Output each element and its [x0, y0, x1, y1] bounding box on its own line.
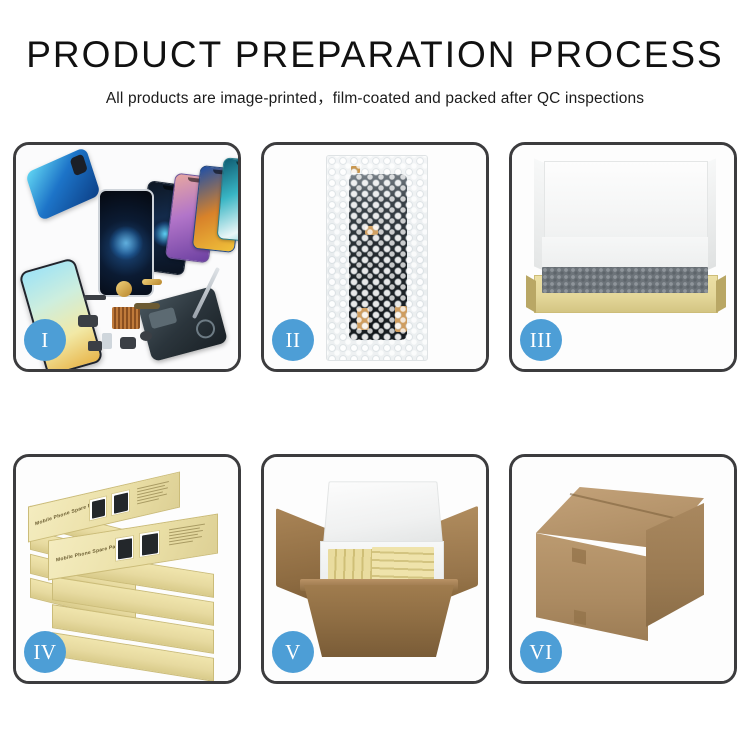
small-part-graphic — [78, 315, 98, 327]
small-part-graphic — [84, 295, 106, 300]
flex-cable-graphic — [142, 279, 162, 285]
step-badge-2: II — [272, 319, 314, 361]
speaker-part-graphic — [140, 331, 152, 341]
bubble-wrap-bag-graphic — [326, 155, 428, 361]
phone-chassis-graphic — [138, 286, 228, 362]
step-badge-5: V — [272, 631, 314, 673]
carton-body-graphic — [304, 585, 454, 657]
process-step-4: Mobile Phone Spare Parts Mobile Phone Sp… — [13, 454, 241, 684]
styrofoam-lid-graphic — [323, 481, 443, 543]
process-step-5: V — [261, 454, 489, 684]
process-step-2: II — [261, 142, 489, 372]
process-step-1: I — [13, 142, 241, 372]
step-badge-6: VI — [520, 631, 562, 673]
small-part-graphic — [120, 337, 136, 349]
process-step-6: VI — [509, 454, 737, 684]
blue-back-panel-graphic — [25, 147, 101, 222]
process-step-3: III — [509, 142, 737, 372]
page-title: PRODUCT PREPARATION PROCESS — [0, 36, 750, 75]
carton-tape-graphic — [574, 610, 586, 626]
carton-tape-graphic — [572, 548, 586, 565]
page-subtitle: All products are image-printed，film-coat… — [0, 86, 750, 108]
page-header: PRODUCT PREPARATION PROCESS All products… — [0, 0, 750, 108]
bubble-texture-graphic — [327, 156, 427, 360]
taptic-part-graphic — [116, 281, 132, 297]
flex-cable-graphic — [134, 303, 160, 309]
copper-grid-part-graphic — [112, 307, 140, 329]
step-badge-3: III — [520, 319, 562, 361]
dark-bubble-wrap-graphic — [542, 267, 708, 293]
process-grid: I II III — [13, 142, 737, 684]
small-part-graphic — [88, 341, 102, 351]
step-badge-1: I — [24, 319, 66, 361]
small-part-graphic — [102, 333, 112, 349]
step-badge-4: IV — [24, 631, 66, 673]
carton-front-graphic — [536, 533, 648, 641]
